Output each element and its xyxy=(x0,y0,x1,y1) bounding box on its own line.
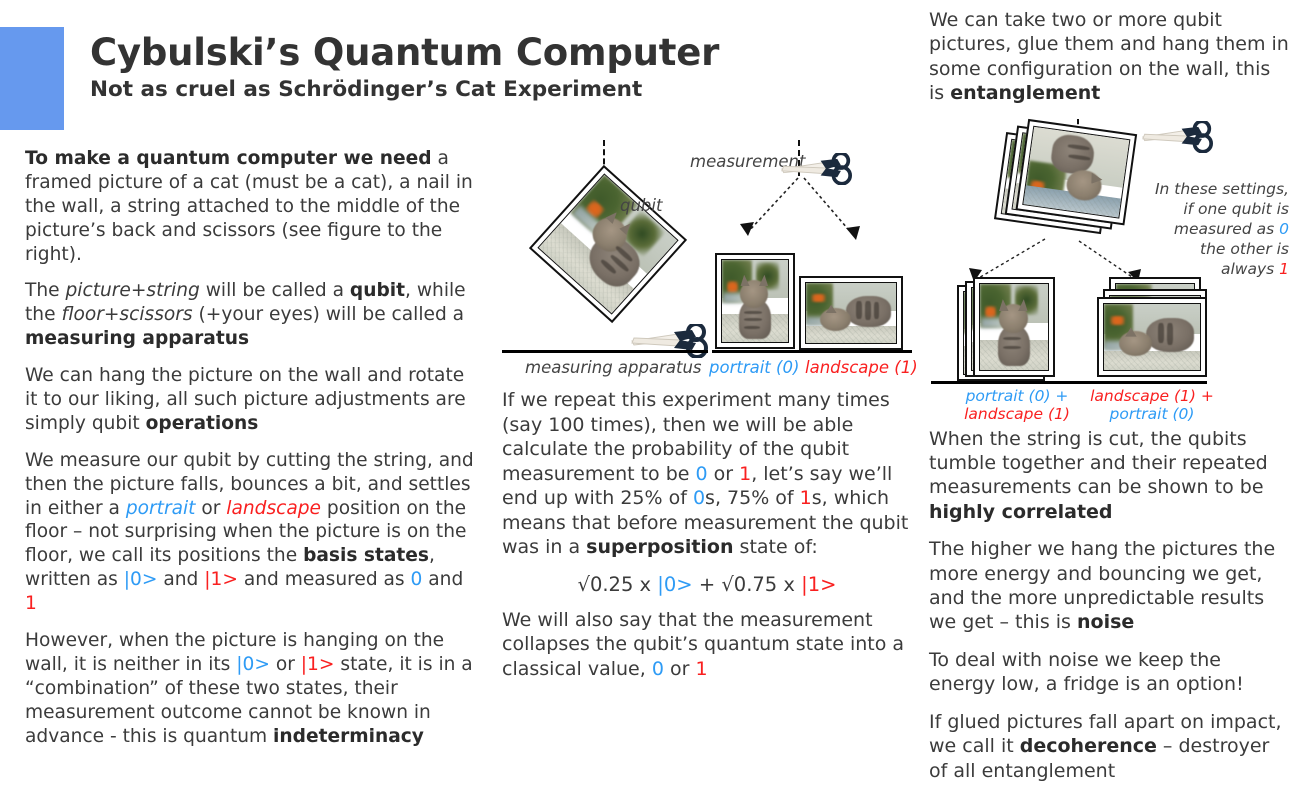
value-zero-m3: 0 xyxy=(652,658,664,680)
eq-part2: + √0.75 x xyxy=(693,573,802,596)
note-one: 1 xyxy=(1279,260,1289,278)
ket-one: |1> xyxy=(204,569,238,590)
paragraph-fridge: To deal with noise we keep the energy lo… xyxy=(929,648,1291,697)
value-zero-m1: 0 xyxy=(696,463,708,485)
result-stack-right xyxy=(1097,277,1217,381)
p4-t5: and xyxy=(157,569,204,590)
p2-t1: The xyxy=(25,280,66,301)
label-left-pair: portrait (0) + landscape (1) xyxy=(957,387,1077,423)
term-indeterminacy: indeterminacy xyxy=(273,726,424,747)
ket-one-2: |1> xyxy=(301,654,335,675)
label-right-b: portrait (0) xyxy=(1087,405,1217,423)
label-measuring-apparatus: measuring apparatus xyxy=(525,358,702,377)
paragraph-correlated: When the string is cut, the qubits tumbl… xyxy=(929,427,1291,525)
paragraph-operations: We can hang the picture on the wall and … xyxy=(25,364,477,436)
p4-t2: or xyxy=(195,498,226,519)
note-zero: 0 xyxy=(1279,220,1289,238)
term-superposition: superposition xyxy=(586,536,733,558)
p2-t2: will be called a xyxy=(200,280,350,301)
paragraph-decoherence: If glued pictures fall apart on impact, … xyxy=(929,710,1291,783)
paragraph-indeterminacy: However, when the picture is hanging on … xyxy=(25,629,477,748)
cat-photo-portrait xyxy=(722,260,788,342)
note-line-2: if one qubit is xyxy=(1109,199,1289,219)
value-one-m2: 1 xyxy=(800,487,812,509)
page-subtitle: Not as cruel as Schrödinger’s Cat Experi… xyxy=(90,78,910,103)
label-right-a: landscape (1) + xyxy=(1087,387,1217,405)
value-zero: 0 xyxy=(411,569,423,590)
superposition-equation: √0.25 x |0> + √0.75 x |1> xyxy=(502,573,912,596)
label-left-a: portrait (0) + xyxy=(957,387,1077,405)
note-line-1: In these settings, xyxy=(1109,179,1289,199)
paragraph-basis-states: We measure our qubit by cutting the stri… xyxy=(25,449,477,616)
ket-zero: |0> xyxy=(124,569,158,590)
m1-t2: or xyxy=(708,463,740,485)
p2-t4: (+your eyes) will be called a xyxy=(193,304,464,325)
r2-t1: When the string is cut, the qubits tumbl… xyxy=(929,428,1268,499)
term-picture-string: picture+string xyxy=(66,280,200,301)
page-title: Cybulski’s Quantum Computer xyxy=(90,32,910,73)
outcome-arrows xyxy=(702,174,902,264)
paragraph-definitions: The picture+string will be called a qubi… xyxy=(25,279,477,351)
qubit-picture-frame xyxy=(529,165,687,323)
floor-line-entangled xyxy=(931,381,1207,384)
title-block: Cybulski’s Quantum Computer Not as cruel… xyxy=(90,32,910,103)
cat-photo-landscape-stack xyxy=(1104,304,1200,370)
landscape-result-frame xyxy=(799,276,903,350)
p5-t2: or xyxy=(270,654,301,675)
paragraph-noise: The higher we hang the pictures the more… xyxy=(929,537,1291,635)
middle-column: qubit measuring apparatus measurement xyxy=(502,140,912,694)
value-one: 1 xyxy=(25,593,37,614)
scissors-icon-entangled xyxy=(1141,121,1213,153)
qubit-measurement-diagram: qubit measuring apparatus measurement xyxy=(502,140,912,388)
eq-ket0: |0> xyxy=(657,573,692,596)
paragraph-requirements: To make a quantum computer we need a fra… xyxy=(25,147,477,266)
entanglement-diagram: In these settings, if one qubit is measu… xyxy=(929,119,1291,391)
floor-line-left xyxy=(502,350,708,353)
cat-photo-landscape xyxy=(806,283,896,343)
accent-block xyxy=(0,27,64,130)
note-l5a: always xyxy=(1221,260,1279,278)
m1-t4: s, 75% of xyxy=(705,487,800,509)
p4-t7: and xyxy=(422,569,463,590)
label-portrait-0: portrait (0) xyxy=(709,358,799,377)
term-noise: noise xyxy=(1077,611,1134,633)
term-decoherence: decoherence xyxy=(1020,735,1157,757)
result-stack-left xyxy=(957,277,1067,381)
label-qubit: qubit xyxy=(620,196,662,215)
term-measuring-apparatus: measuring apparatus xyxy=(25,328,249,349)
eq-ket1: |1> xyxy=(801,573,836,596)
p4-t6: and measured as xyxy=(238,569,411,590)
term-basis-states: basis states xyxy=(303,545,429,566)
m1-t6: state of: xyxy=(734,536,818,558)
label-left-b: landscape (1) xyxy=(957,405,1077,423)
lead-bold: To make a quantum computer we need xyxy=(25,148,432,169)
paragraph-collapse: We will also say that the measurement co… xyxy=(502,608,912,682)
term-entanglement: entanglement xyxy=(950,82,1100,104)
right-column: We can take two or more qubit pictures, … xyxy=(929,8,1291,796)
label-right-pair: landscape (1) + portrait (0) xyxy=(1087,387,1217,423)
term-qubit: qubit xyxy=(350,280,405,301)
m2-t2: or xyxy=(664,658,696,680)
value-zero-m2: 0 xyxy=(693,487,705,509)
portrait-result-frame xyxy=(715,253,795,349)
cat-photo-portrait-stack xyxy=(980,284,1048,370)
eq-part1: √0.25 x xyxy=(578,573,658,596)
ket-zero-2: |0> xyxy=(236,654,270,675)
paragraph-entanglement: We can take two or more qubit pictures, … xyxy=(929,8,1291,106)
left-column: To make a quantum computer we need a fra… xyxy=(25,147,477,761)
term-portrait: portrait xyxy=(126,498,196,519)
value-one-m1: 1 xyxy=(739,463,751,485)
term-landscape: landscape xyxy=(226,498,321,519)
term-floor-scissors: floor+scissors xyxy=(61,304,192,325)
term-operations: operations xyxy=(146,413,259,434)
term-highly-correlated: highly correlated xyxy=(929,501,1113,523)
label-landscape-1: landscape (1) xyxy=(805,358,918,377)
floor-line-right xyxy=(712,350,912,353)
value-one-m3: 1 xyxy=(695,658,707,680)
paragraph-superposition: If we repeat this experiment many times … xyxy=(502,388,912,560)
poster-page: Cybulski’s Quantum Computer Not as cruel… xyxy=(0,0,1309,734)
